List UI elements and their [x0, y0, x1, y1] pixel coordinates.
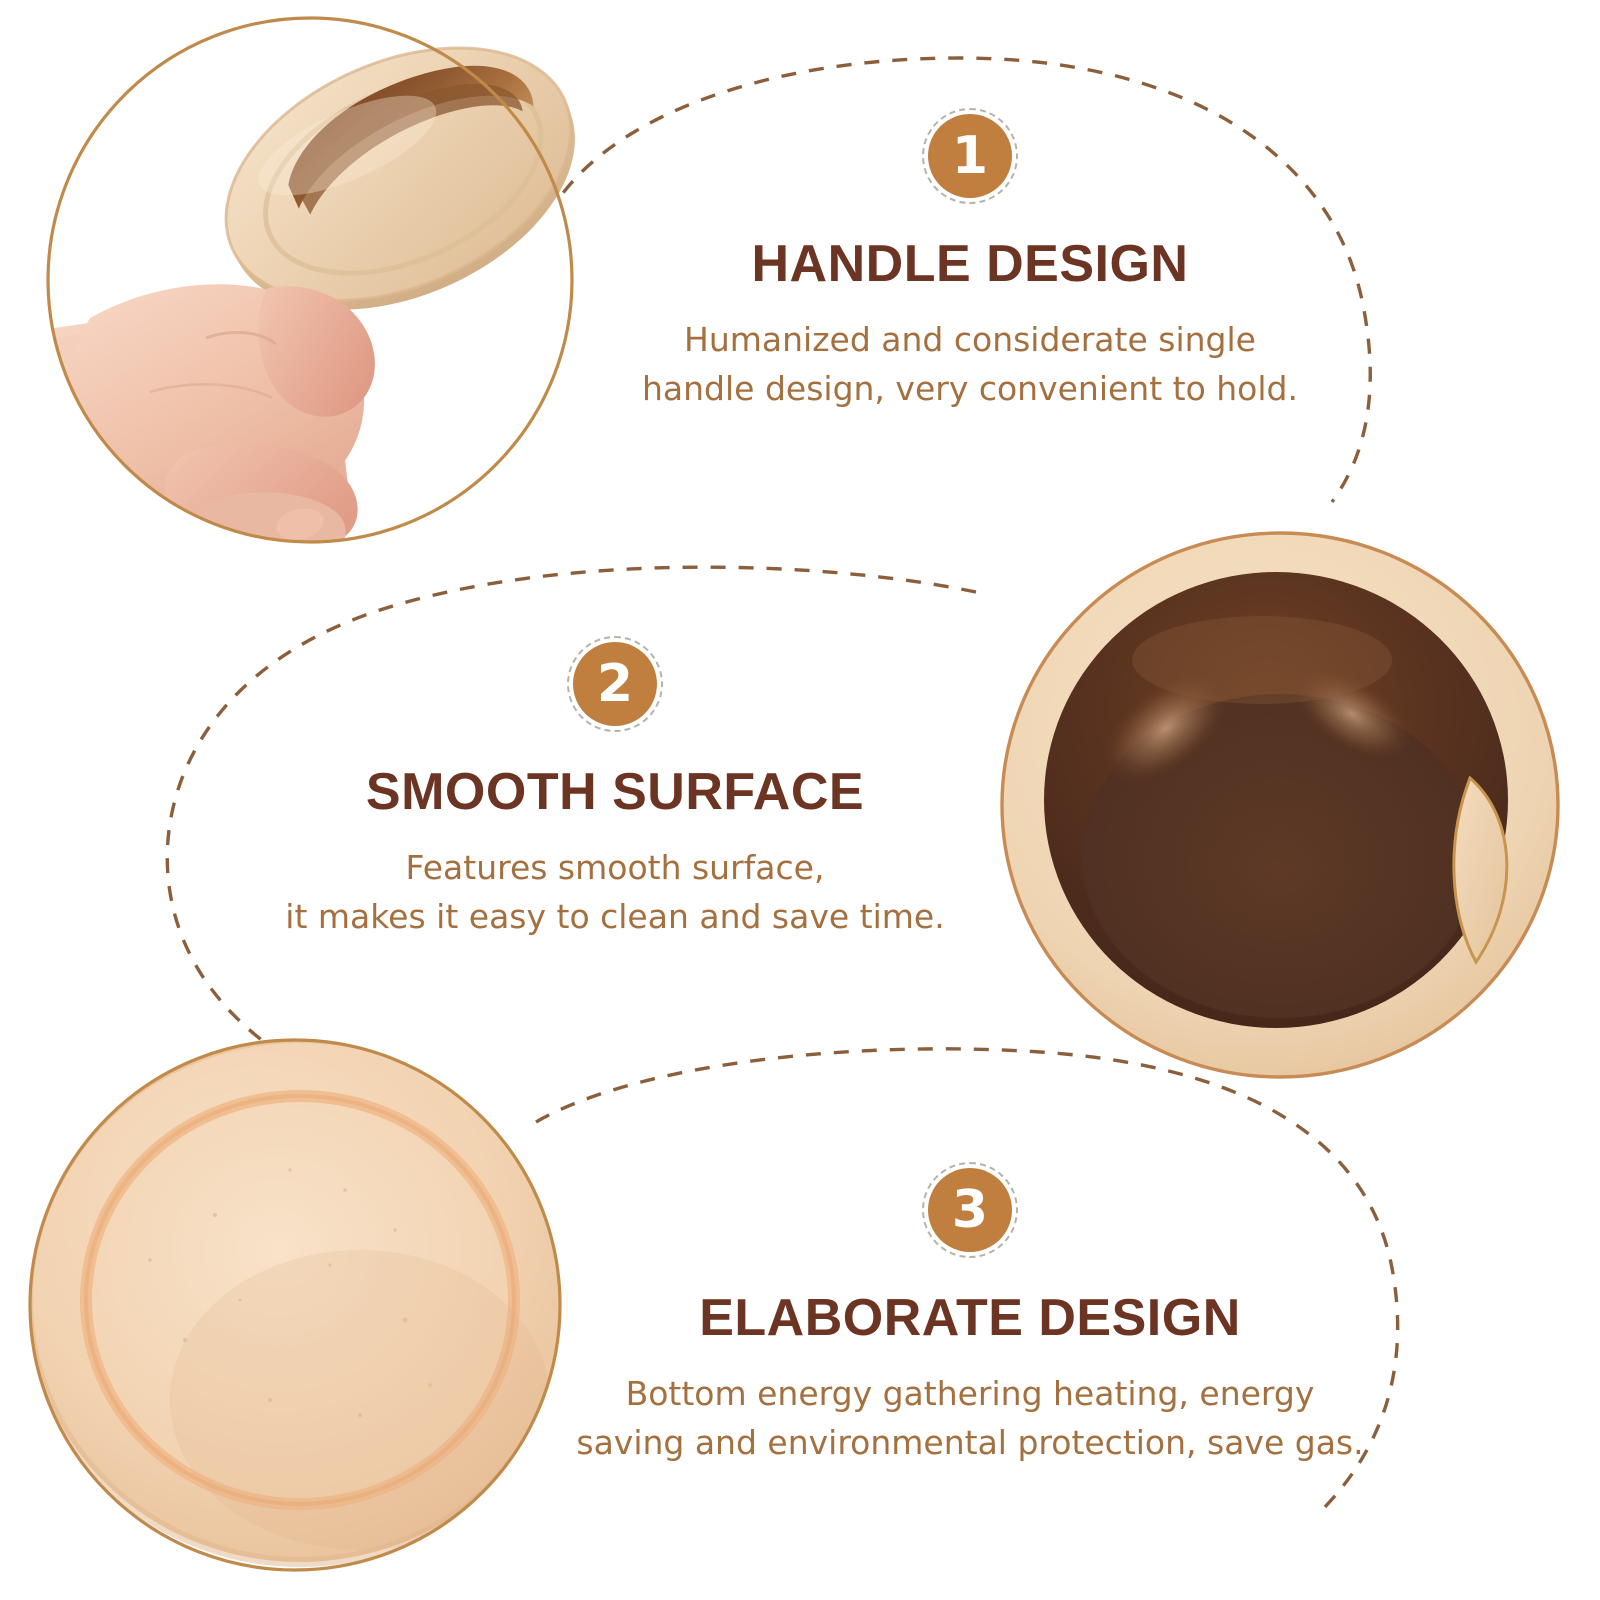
- infographic-canvas: 1 HANDLE DESIGN Humanized and considerat…: [0, 0, 1600, 1600]
- feature-description-3-line-2: saving and environmental protection, sav…: [555, 1419, 1385, 1468]
- feature-description-3-line-1: Bottom energy gathering heating, energy: [555, 1370, 1385, 1419]
- feature-description-1-line-1: Humanized and considerate single: [560, 316, 1380, 365]
- feature-block-3: 3 ELABORATE DESIGN Bottom energy gatheri…: [555, 1162, 1385, 1468]
- feature-description-2: Features smooth surface, it makes it eas…: [205, 844, 1025, 942]
- feature-title-2: SMOOTH SURFACE: [205, 762, 1025, 822]
- badge-number-1: 1: [928, 114, 1012, 198]
- feature-title-1: HANDLE DESIGN: [560, 234, 1380, 294]
- content-layer: 1 HANDLE DESIGN Humanized and considerat…: [0, 0, 1600, 1600]
- feature-description-1-line-2: handle design, very convenient to hold.: [560, 365, 1380, 414]
- badge-number-2: 2: [573, 642, 657, 726]
- feature-block-1: 1 HANDLE DESIGN Humanized and considerat…: [560, 108, 1380, 414]
- feature-description-2-line-1: Features smooth surface,: [205, 844, 1025, 893]
- feature-description-2-line-2: it makes it easy to clean and save time.: [205, 893, 1025, 942]
- feature-description-1: Humanized and considerate single handle …: [560, 316, 1380, 414]
- feature-description-3: Bottom energy gathering heating, energy …: [555, 1370, 1385, 1468]
- feature-title-3: ELABORATE DESIGN: [555, 1288, 1385, 1348]
- badge-number-3: 3: [928, 1168, 1012, 1252]
- feature-block-2: 2 SMOOTH SURFACE Features smooth surface…: [205, 636, 1025, 942]
